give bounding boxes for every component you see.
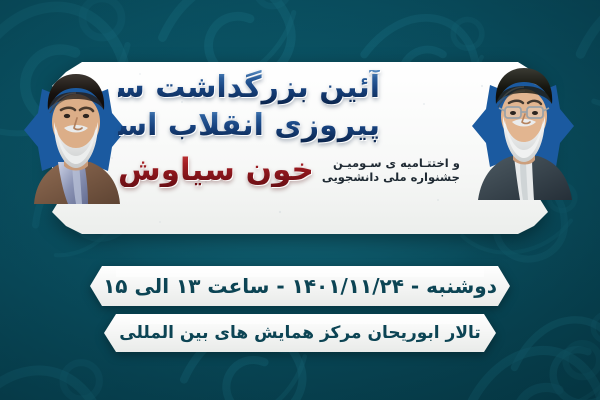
datetime-text: دوشنبه - ۱۴۰۱/۱۱/۲۴ - ساعت ۱۳ الی ۱۵	[90, 264, 510, 308]
festival-subtitle-line-2: جشنواره ملی دانشجویی	[322, 170, 460, 184]
headline-line-1: آئین بزرگداشت سالگرد	[118, 70, 380, 106]
portrait-ayatollah-khamenei	[462, 62, 584, 200]
event-poster: آئین بزرگداشت سالگرد پیروزی انقلاب اسلام…	[0, 0, 600, 400]
venue-ribbon: تالار ابوریحان مرکز همایش های بین المللی	[104, 312, 496, 354]
festival-title: خون سیاوش	[118, 153, 314, 187]
festival-subtitle-line-1: و اختتـامیه ی سـومیـن	[333, 156, 460, 170]
headline-line-2: پیروزی انقلاب اسلامی	[118, 108, 380, 144]
festival-row: خون سیاوش و اختتـامیه ی سـومیـن جشنواره …	[118, 148, 380, 192]
venue-text: تالار ابوریحان مرکز همایش های بین المللی	[104, 312, 496, 354]
festival-subtitle: و اختتـامیه ی سـومیـن جشنواره ملی دانشجو…	[322, 156, 460, 184]
headline-block: آئین بزرگداشت سالگرد پیروزی انقلاب اسلام…	[118, 70, 380, 144]
datetime-ribbon: دوشنبه - ۱۴۰۱/۱۱/۲۴ - ساعت ۱۳ الی ۱۵	[90, 264, 510, 308]
